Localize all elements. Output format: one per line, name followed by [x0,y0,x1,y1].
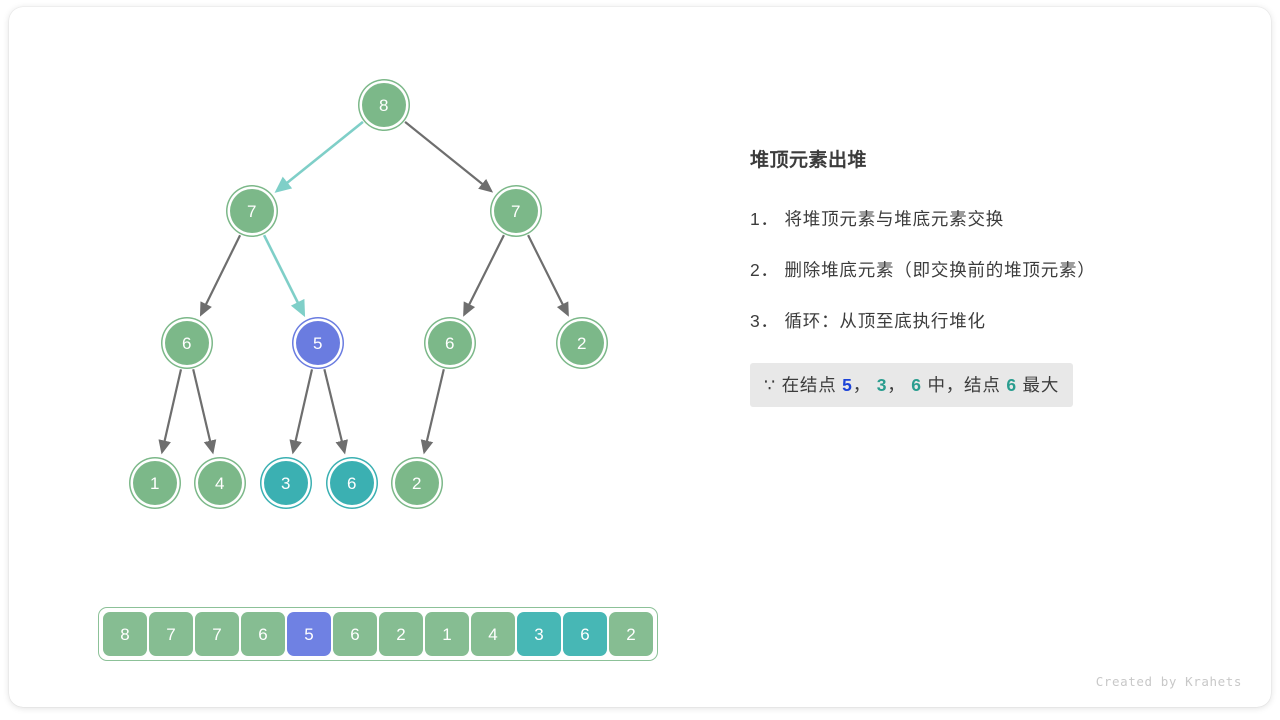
array-cell: 8 [103,612,147,656]
step-item-3: 3． 循环：从顶至底执行堆化 [750,308,1220,333]
tree-edge [424,369,443,452]
step-item-2: 2． 删除堆底元素（即交换前的堆顶元素） [750,257,1220,282]
tree-edge [528,235,568,314]
array-cell: 3 [517,612,561,656]
array-cell: 2 [609,612,653,656]
array-cell: 2 [379,612,423,656]
tree-edge [201,235,240,314]
tree-node: 6 [428,321,472,365]
tree-edge [405,122,491,191]
tree-node-value: 4 [215,475,225,492]
heap-array: 877656214362 [98,607,658,661]
note-suffix: 最大 [1023,375,1060,395]
note-callout: ∵ 在结点 5， 3， 6 中，结点 6 最大 [750,363,1073,407]
tree-node-value: 3 [281,475,291,492]
array-cell: 1 [425,612,469,656]
tree-node-value: 6 [445,335,455,352]
tree-node: 6 [330,461,374,505]
tree-node-value: 1 [150,475,160,492]
tree-node-value: 7 [247,203,257,220]
note-middle: 中，结点 [927,375,1000,395]
credit-footer: Created by Krahets [1096,674,1242,689]
tree-edge [293,369,312,451]
array-cell: 6 [333,612,377,656]
array-cell: 6 [563,612,607,656]
tree-edge [464,235,504,314]
tree-edge [162,369,181,451]
tree-node-value: 2 [577,335,587,352]
tree-node: 7 [494,189,538,233]
array-cell: 4 [471,612,515,656]
tree-edge [277,122,363,191]
note-value-a: 5 [842,375,853,395]
array-cell: 7 [195,612,239,656]
tree-edge [193,369,212,452]
tree-node-value: 8 [379,97,389,114]
tree-node: 1 [133,461,177,505]
step-item-1: 1． 将堆顶元素与堆底元素交换 [750,206,1220,231]
tree-node: 4 [198,461,242,505]
note-value-b: 3 [877,375,888,395]
note-sep-2: ， [887,375,905,395]
note-value-d: 6 [1006,375,1017,395]
tree-node: 5 [296,321,340,365]
array-cell: 7 [149,612,193,656]
tree-node-value: 7 [511,203,521,220]
slide-card: 877656214362 877656214362 堆顶元素出堆 1． 将堆顶元… [9,7,1271,707]
note-prefix: ∵ 在结点 [764,375,837,395]
tree-node: 7 [230,189,274,233]
explanation-panel: 堆顶元素出堆 1． 将堆顶元素与堆底元素交换 2． 删除堆底元素（即交换前的堆顶… [750,145,1220,407]
tree-node: 6 [165,321,209,365]
note-sep-1: ， [853,375,871,395]
array-cell: 6 [241,612,285,656]
binary-heap-tree-diagram: 877656214362 [9,7,709,707]
tree-node-value: 6 [347,475,357,492]
tree-node: 8 [362,83,406,127]
tree-node-value: 2 [412,475,422,492]
tree-node-value: 5 [313,335,323,352]
tree-node: 3 [264,461,308,505]
tree-node-value: 6 [182,335,192,352]
page-title: 堆顶元素出堆 [750,145,1220,172]
tree-node: 2 [560,321,604,365]
tree-edge [264,235,304,314]
note-value-c: 6 [911,375,922,395]
array-cell: 5 [287,612,331,656]
tree-edge [324,369,344,452]
tree-node: 2 [395,461,439,505]
